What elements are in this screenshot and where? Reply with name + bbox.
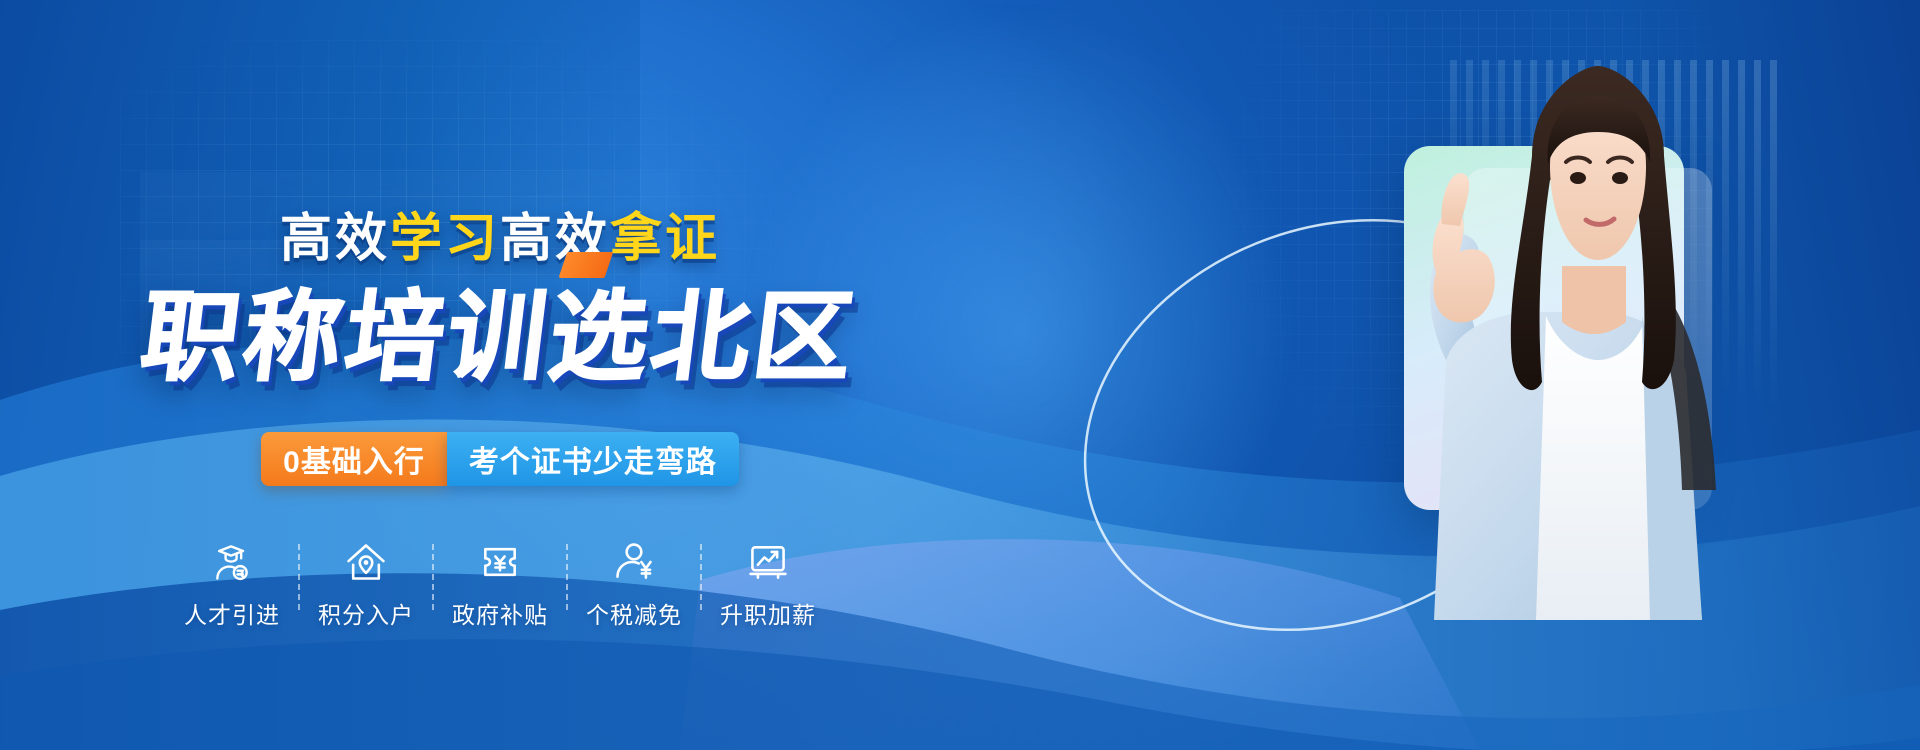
feature-item-talent-introduction[interactable]: 人才引进 <box>166 540 298 630</box>
feature-label: 积分入户 <box>318 596 414 630</box>
headline: 职称培训选北区 <box>0 258 1009 400</box>
house-pin-icon <box>344 540 388 584</box>
badge-certificate-shortcut[interactable]: 考个证书少走弯路 <box>447 432 739 486</box>
promo-banner: 高效学习高效拿证 职称培训选北区 0基础入行 考个证书少走弯路 <box>0 0 1920 750</box>
badge-row: 0基础入行 考个证书少走弯路 <box>0 432 1000 486</box>
feature-item-tax-reduction[interactable]: 个税减免 <box>568 540 700 630</box>
person-yuan-icon <box>612 540 656 584</box>
ticket-yuan-icon <box>478 540 522 584</box>
graduate-person-icon <box>210 540 254 584</box>
feature-item-points-residency[interactable]: 积分入户 <box>300 540 432 630</box>
feature-label: 政府补贴 <box>452 596 548 630</box>
badge-zero-basis[interactable]: 0基础入行 <box>261 432 447 486</box>
feature-row: 人才引进 积分入户 <box>0 540 1000 630</box>
headline-part-1: 职称培训 <box>135 282 557 392</box>
headline-part-2: 选北区 <box>542 258 865 400</box>
feature-item-promotion-raise[interactable]: 升职加薪 <box>702 540 834 630</box>
feature-item-government-subsidy[interactable]: 政府补贴 <box>434 540 566 630</box>
model-photo <box>1250 60 1770 620</box>
growth-chart-icon <box>746 540 790 584</box>
feature-label: 人才引进 <box>184 596 280 630</box>
banner-content: 高效学习高效拿证 职称培训选北区 0基础入行 考个证书少走弯路 <box>0 0 1000 750</box>
feature-label: 升职加薪 <box>720 596 816 630</box>
feature-label: 个税减免 <box>586 596 682 630</box>
